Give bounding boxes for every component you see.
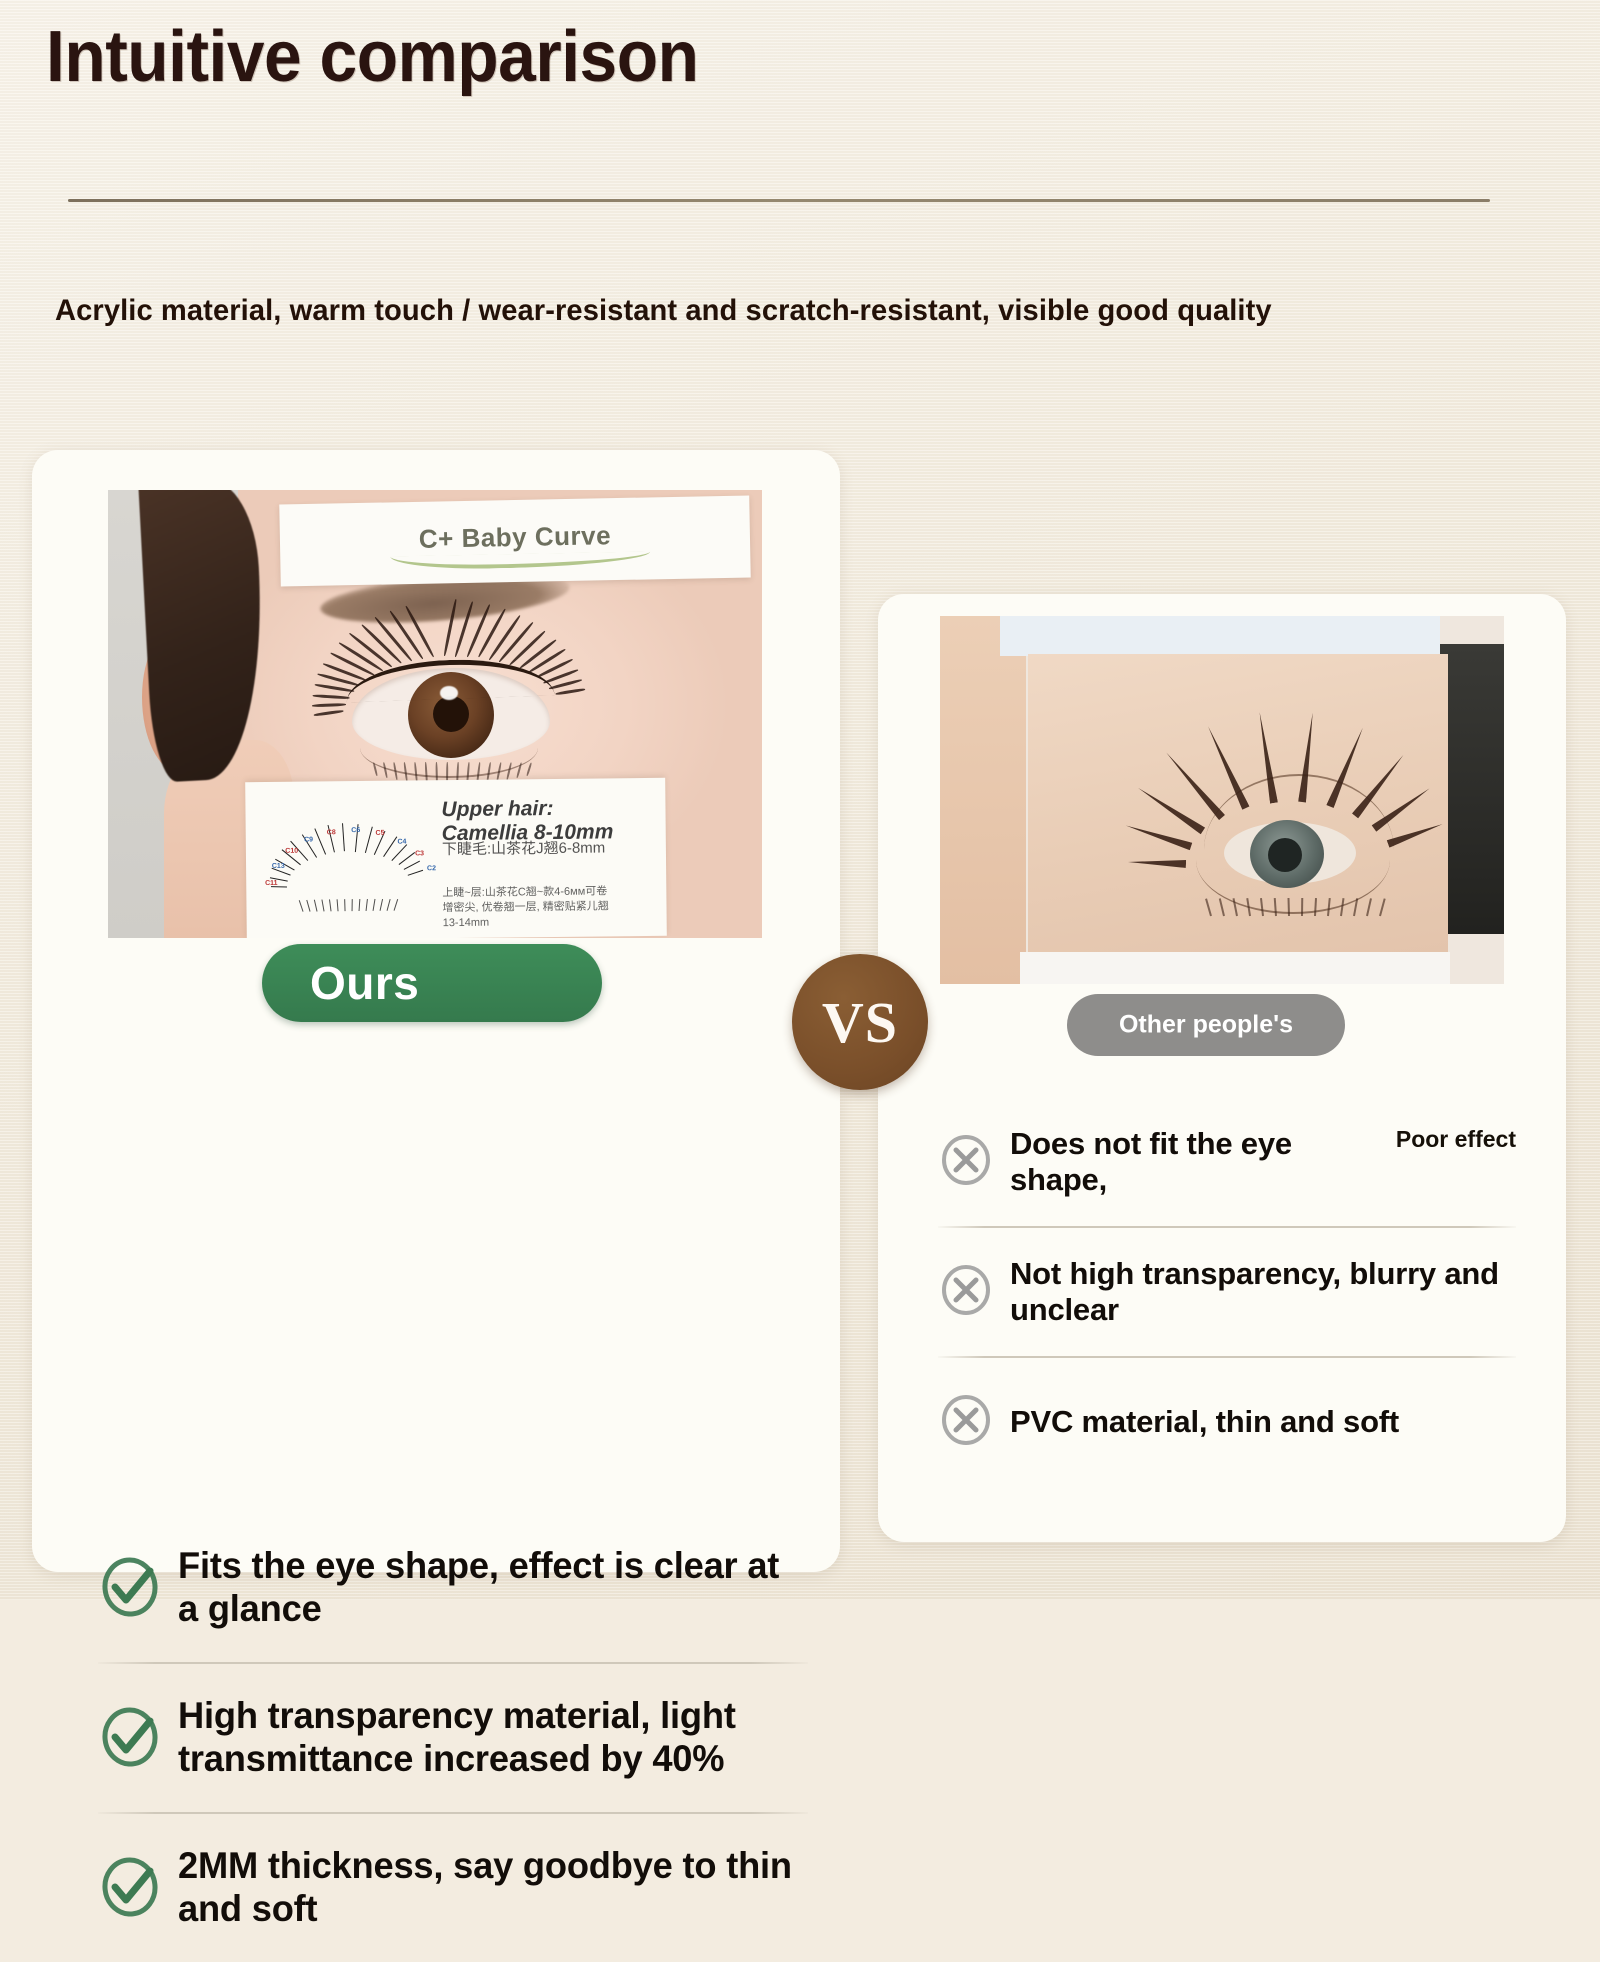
ours-feature-list: Fits the eye shape, effect is clear at a…	[98, 1514, 808, 1962]
lower-lash-tick	[1301, 898, 1303, 916]
diagram-size-tag: C2	[427, 866, 436, 873]
theirs-feature-item: Not high transparency, blurry and unclea…	[938, 1228, 1516, 1356]
ours-feature-label: High transparency material, light transm…	[178, 1695, 795, 1781]
theirs-feature-item: PVC material, thin and soft	[938, 1358, 1516, 1486]
ours-product-label-bottom: C11C13C10C9C8C6C5C4C3C2 Upper hair: Came…	[245, 778, 667, 938]
diagram-size-tag: C9	[304, 836, 313, 843]
page-subtitle: Acrylic material, warm touch / wear-resi…	[55, 294, 1272, 328]
product-curve-label: C+ Baby Curve	[280, 517, 751, 557]
ours-feature-label: Fits the eye shape, effect is clear at a…	[178, 1545, 795, 1631]
page-title: Intuitive comparison	[46, 16, 698, 98]
diagram-lower-lash-strand	[306, 900, 310, 912]
theirs-photo-top-strip	[1000, 616, 1440, 656]
theirs-badge: Other people's	[1067, 994, 1345, 1056]
diagram-lower-lash-strand	[314, 900, 318, 912]
spiky-lash-cluster	[1128, 858, 1186, 868]
theirs-feature-note: Poor effect	[1396, 1126, 1516, 1153]
cross-circle-icon	[938, 1132, 994, 1193]
theirs-feature-list: Does not fit the eye shape,Poor effectNo…	[938, 1098, 1516, 1486]
diagram-lower-lash-strand	[299, 900, 304, 912]
ours-product-photo: C+ Baby Curve C11C13C10C9C8C6C5C4C3C2 Up…	[108, 490, 762, 938]
diagram-lower-lash-strand	[344, 899, 346, 911]
cross-circle-icon	[938, 1392, 994, 1453]
diagram-lash-strand	[365, 826, 373, 852]
theirs-photo-skin-left	[940, 616, 1026, 984]
diagram-size-tag: C13	[272, 863, 285, 870]
diagram-size-tag: C5	[375, 830, 384, 837]
diagram-size-tag: C4	[397, 838, 406, 845]
cross-circle-icon	[938, 1262, 994, 1323]
spiky-lash-cluster	[1372, 785, 1432, 832]
title-divider-rule	[68, 199, 1490, 202]
lower-lash-tick	[1219, 898, 1225, 916]
lower-lash-tick	[1205, 898, 1212, 916]
lash-spec-diagram: C11C13C10C9C8C6C5C4C3C2	[255, 806, 440, 934]
diagram-lower-lash-strand	[359, 899, 361, 911]
theirs-product-photo	[940, 616, 1504, 984]
theirs-photo-dark-edge	[1440, 644, 1504, 934]
theirs-feature-label: Does not fit the eye shape,	[1010, 1126, 1370, 1198]
ours-product-label-top: C+ Baby Curve	[279, 495, 750, 586]
diagram-lower-lash-strand	[352, 899, 353, 911]
check-circle-icon	[98, 1854, 162, 1923]
theirs-comparison-card: Does not fit the eye shape,Poor effectNo…	[878, 594, 1566, 1542]
diagram-lash-strand	[314, 828, 326, 854]
vs-badge: VS	[792, 954, 928, 1090]
diagram-size-tag: C3	[415, 850, 424, 857]
lower-lash-tick	[1366, 898, 1372, 916]
ours-badge-label: Ours	[310, 956, 419, 1010]
detail-spec-cn: 上睫~层:山茶花C翘~款4-6мм可卷 增密尖, 优卷翘一层, 精密贴紧儿翘 1…	[442, 884, 609, 930]
spiky-lash-cluster	[1386, 821, 1443, 848]
spiky-lash-cluster	[1136, 784, 1205, 834]
diagram-lower-lash-strand	[380, 899, 384, 911]
diagram-lower-lash-strand	[329, 899, 332, 911]
diagram-size-tag: C10	[285, 848, 298, 855]
diagram-lower-lash-strand	[337, 899, 339, 911]
lower-hair-spec-cn: 下睫毛:山茶花J翘6-8mm	[442, 838, 606, 859]
diagram-lower-lash-strand	[373, 899, 376, 911]
spiky-lash-cluster	[1205, 724, 1250, 809]
theirs-feature-label: Not high transparency, blurry and unclea…	[1010, 1256, 1516, 1328]
diagram-size-tag: C11	[265, 880, 278, 887]
photo-eye-pupil	[433, 696, 469, 732]
ours-feature-item: 2MM thickness, say goodbye to thin and s…	[98, 1814, 808, 1962]
theirs-photo-lower-lid	[1196, 860, 1390, 914]
diagram-lower-lash-strand	[394, 899, 399, 911]
ours-badge: Ours	[262, 944, 602, 1022]
diagram-lash-strand	[404, 861, 421, 871]
spiky-lash-cluster	[1125, 822, 1193, 851]
ours-feature-label: 2MM thickness, say goodbye to thin and s…	[178, 1845, 795, 1931]
theirs-photo-lash-card	[1028, 654, 1448, 954]
lower-lash-tick	[1379, 898, 1386, 916]
diagram-size-tag: C6	[351, 827, 360, 834]
diagram-lash-strand	[342, 823, 345, 851]
diagram-lower-lash-strand	[366, 899, 369, 911]
diagram-lash-strand	[408, 870, 424, 876]
theirs-feature-label: PVC material, thin and soft	[1010, 1404, 1399, 1440]
theirs-photo-bottom-strip	[1020, 952, 1450, 984]
ours-feature-item: High transparency material, light transm…	[98, 1664, 808, 1812]
diagram-size-tag: C8	[327, 829, 336, 836]
ours-feature-item: Fits the eye shape, effect is clear at a…	[98, 1514, 808, 1662]
check-circle-icon	[98, 1704, 162, 1773]
diagram-lower-lash-strand	[387, 899, 391, 911]
vs-badge-label: VS	[792, 954, 928, 1090]
check-circle-icon	[98, 1554, 162, 1623]
theirs-badge-label: Other people's	[1067, 1011, 1345, 1040]
diagram-lower-lash-strand	[321, 899, 324, 911]
theirs-feature-item: Does not fit the eye shape,Poor effect	[938, 1098, 1516, 1226]
